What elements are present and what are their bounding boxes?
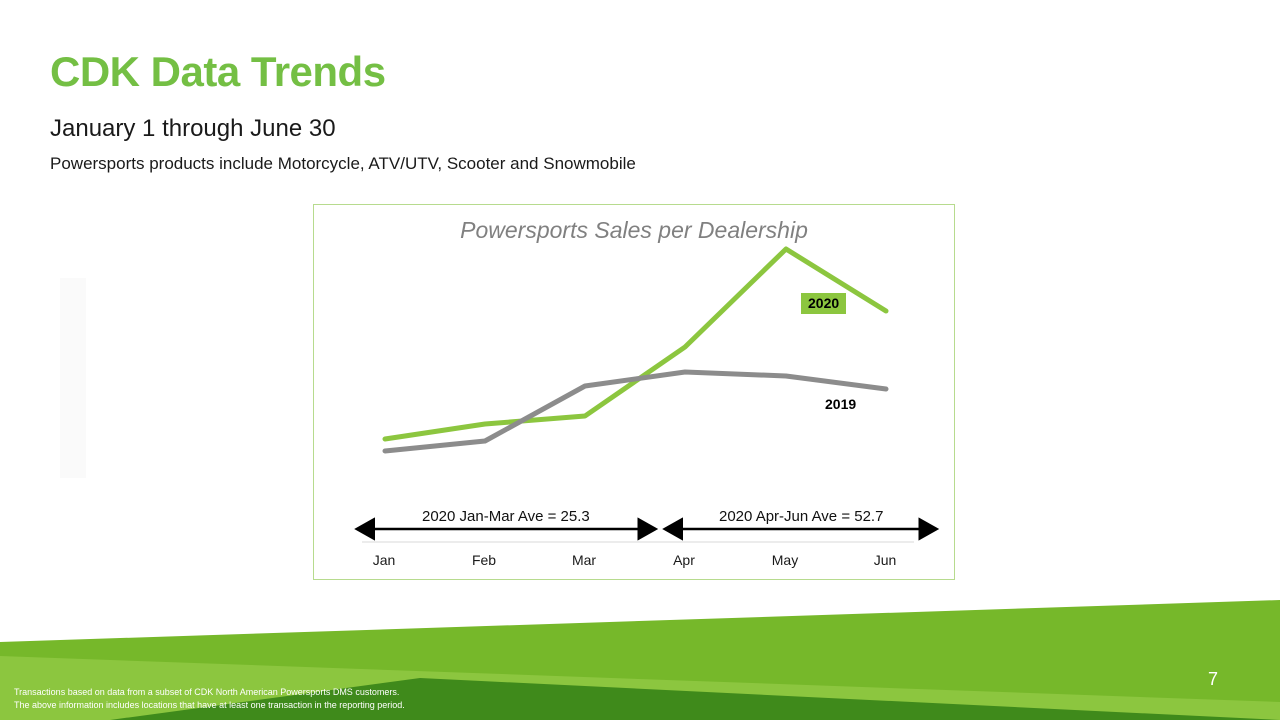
series-label-2020: 2020 <box>801 293 846 314</box>
annotation-q2-average: 2020 Apr-Jun Ave = 52.7 <box>719 508 883 525</box>
page-note: Powersports products include Motorcycle,… <box>50 154 636 174</box>
footnote-line-1: Transactions based on data from a subset… <box>14 686 405 699</box>
series-label-2019: 2019 <box>825 397 856 411</box>
x-axis-label-jun: Jun <box>855 552 915 568</box>
footnote: Transactions based on data from a subset… <box>14 686 405 712</box>
x-axis-label-may: May <box>755 552 815 568</box>
x-axis-label-feb: Feb <box>454 552 514 568</box>
page-number: 7 <box>1208 669 1218 690</box>
footnote-line-2: The above information includes locations… <box>14 699 405 712</box>
page-title: CDK Data Trends <box>50 48 386 96</box>
x-axis-label-apr: Apr <box>654 552 714 568</box>
background-band-left <box>60 278 86 478</box>
series-line-2020 <box>385 249 886 439</box>
annotation-q1-average: 2020 Jan-Mar Ave = 25.3 <box>422 508 590 525</box>
x-axis-label-jan: Jan <box>354 552 414 568</box>
slide-canvas: CDK Data Trends January 1 through June 3… <box>0 0 1280 720</box>
x-axis-label-mar: Mar <box>554 552 614 568</box>
page-subtitle: January 1 through June 30 <box>50 115 336 143</box>
